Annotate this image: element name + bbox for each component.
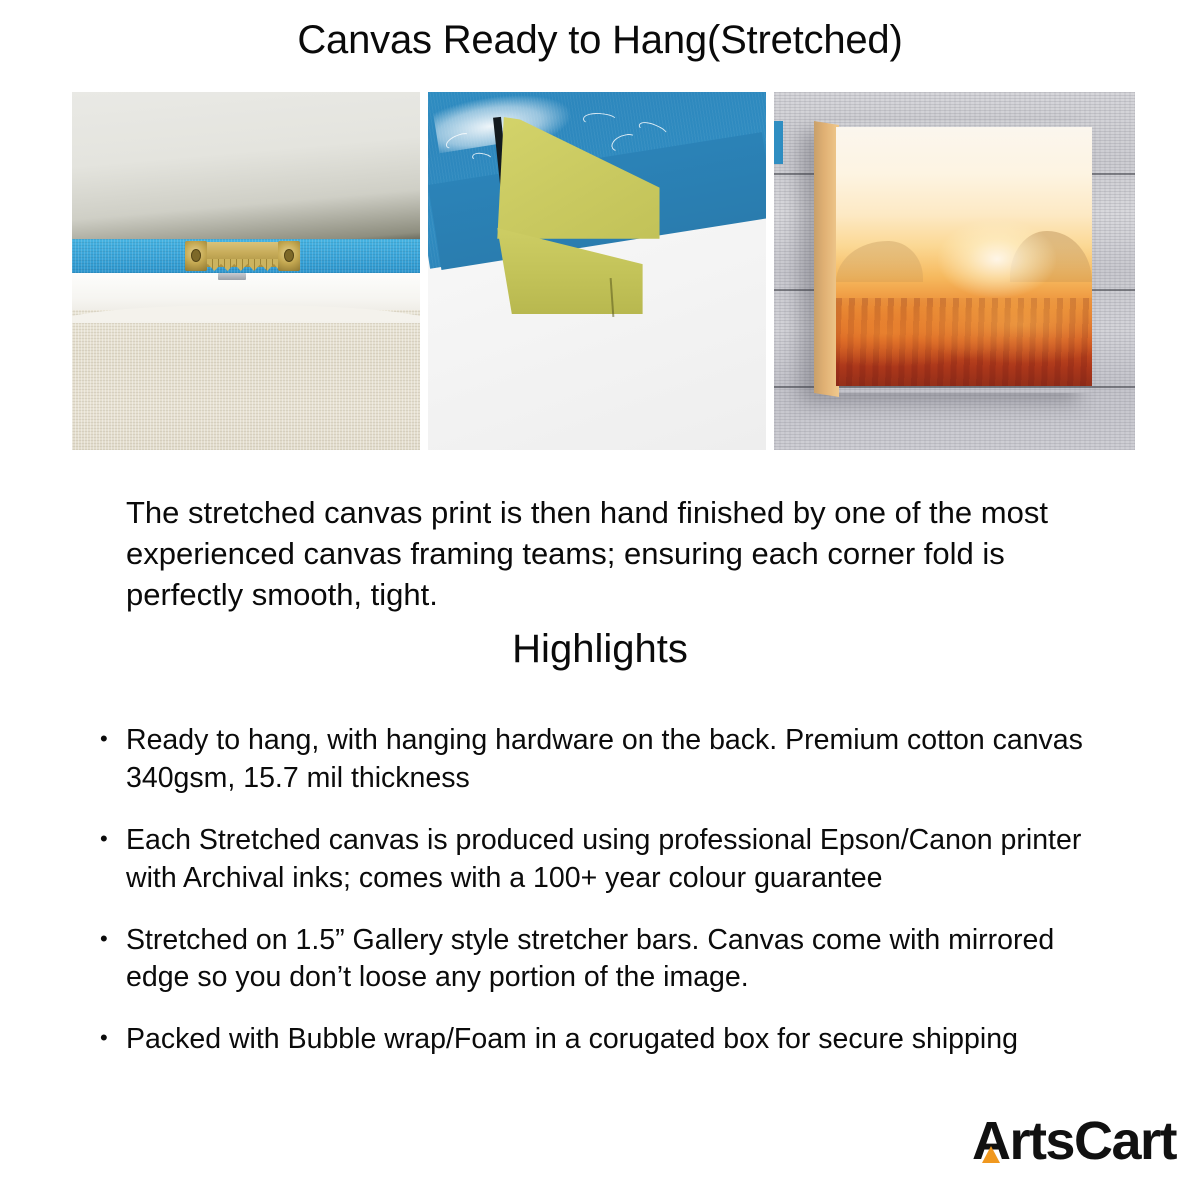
- highlights-list: • Ready to hang, with hanging hardware o…: [100, 722, 1120, 1083]
- canvas-back-fabric: [72, 310, 420, 450]
- print-foreground: [836, 298, 1092, 386]
- list-item-text: Each Stretched canvas is produced using …: [126, 822, 1120, 898]
- hanger-teeth: [201, 259, 284, 271]
- list-item: • Stretched on 1.5” Gallery style stretc…: [100, 922, 1120, 998]
- bullet-icon: •: [100, 922, 126, 998]
- hung-canvas: [814, 121, 1092, 393]
- brand-logo: A rtsCart: [972, 1110, 1176, 1172]
- list-item-text: Packed with Bubble wrap/Foam in a coruga…: [126, 1021, 1120, 1059]
- image-canvas-back-hanger: [72, 92, 420, 450]
- background-wall: [72, 92, 420, 239]
- bullet-icon: •: [100, 822, 126, 898]
- page-title: Canvas Ready to Hang(Stretched): [0, 0, 1200, 61]
- print-sun-glow: [938, 220, 1056, 298]
- hanger-metal-tab: [218, 273, 246, 280]
- list-item-text: Stretched on 1.5” Gallery style stretche…: [126, 922, 1120, 998]
- bullet-icon: •: [100, 1021, 126, 1059]
- brand-logo-letter-a: A: [972, 1110, 1010, 1172]
- brand-logo-rest-text: rtsCart: [1009, 1110, 1176, 1172]
- list-item-text: Ready to hang, with hanging hardware on …: [126, 722, 1120, 798]
- canvas-sunset-print: [836, 127, 1092, 385]
- list-item: • Packed with Bubble wrap/Foam in a coru…: [100, 1021, 1120, 1059]
- image-canvas-hanging-on-wall: [774, 92, 1135, 450]
- image-canvas-corner-fold: [428, 92, 766, 450]
- orange-triangle-icon: [982, 1146, 1000, 1163]
- hanger-screw-left: [185, 241, 207, 271]
- print-hill-left: [836, 241, 923, 282]
- list-item: • Each Stretched canvas is produced usin…: [100, 822, 1120, 898]
- blue-edge-sliver: [774, 121, 783, 164]
- bullet-icon: •: [100, 722, 126, 798]
- sawtooth-hanger: [185, 241, 300, 271]
- hanger-screw-right: [278, 241, 300, 271]
- intro-paragraph: The stretched canvas print is then hand …: [126, 492, 1076, 616]
- highlights-heading: Highlights: [0, 627, 1200, 672]
- product-image-strip: [72, 92, 1135, 450]
- list-item: • Ready to hang, with hanging hardware o…: [100, 722, 1120, 798]
